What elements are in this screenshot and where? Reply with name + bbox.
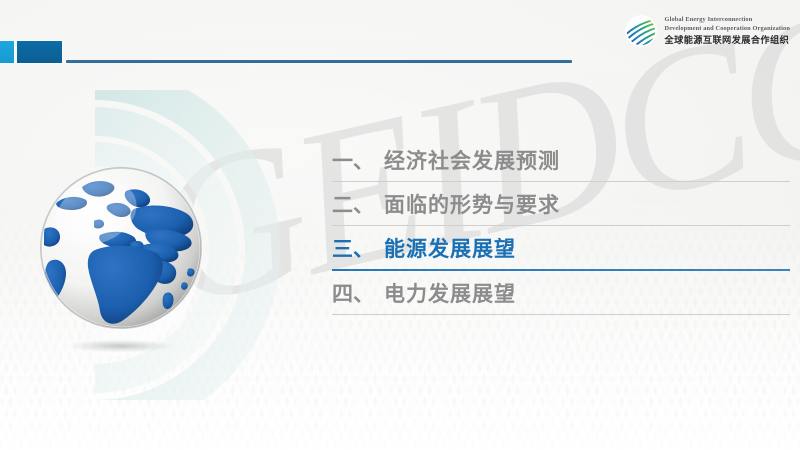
globe-grid-icon [624,14,658,48]
agenda-item-1[interactable]: 一、 经济社会发展预测 [332,138,790,181]
agenda-item-1-label: 经济社会发展预测 [384,145,560,175]
agenda-item-3-number: 三、 [332,233,384,263]
agenda-list: 一、 经济社会发展预测 二、 面临的形势与要求 三、 能源发展展望 四、 电力发… [332,138,790,315]
agenda-item-3[interactable]: 三、 能源发展展望 [332,226,790,269]
agenda-item-2-label: 面临的形势与要求 [384,189,560,219]
agenda-item-3-label: 能源发展展望 [384,233,516,263]
agenda-item-4[interactable]: 四、 电力发展展望 [332,271,790,314]
logo-english-line-2: Development and Cooperation Organization [665,25,790,33]
agenda-item-4-number: 四、 [332,278,384,308]
logo-text-block: Global Energy Interconnection Developmen… [665,16,790,45]
agenda-item-2[interactable]: 二、 面临的形势与要求 [332,182,790,225]
slide-canvas: GEIDCO [0,0,800,450]
header-rule [66,60,572,63]
agenda-divider-4 [332,314,790,315]
agenda-item-1-number: 一、 [332,145,384,175]
header-cyan-block [0,41,14,63]
globe-shadow [46,337,196,355]
agenda-item-4-label: 电力发展展望 [384,278,516,308]
logo-english-line-1: Global Energy Interconnection [665,16,790,24]
globe-illustration [38,165,214,365]
logo-chinese-name: 全球能源互联网发展合作组织 [665,35,790,46]
header-blue-block [17,41,62,63]
geidco-logo: Global Energy Interconnection Developmen… [624,14,790,48]
agenda-item-2-number: 二、 [332,189,384,219]
earth-globe-icon [38,165,204,331]
